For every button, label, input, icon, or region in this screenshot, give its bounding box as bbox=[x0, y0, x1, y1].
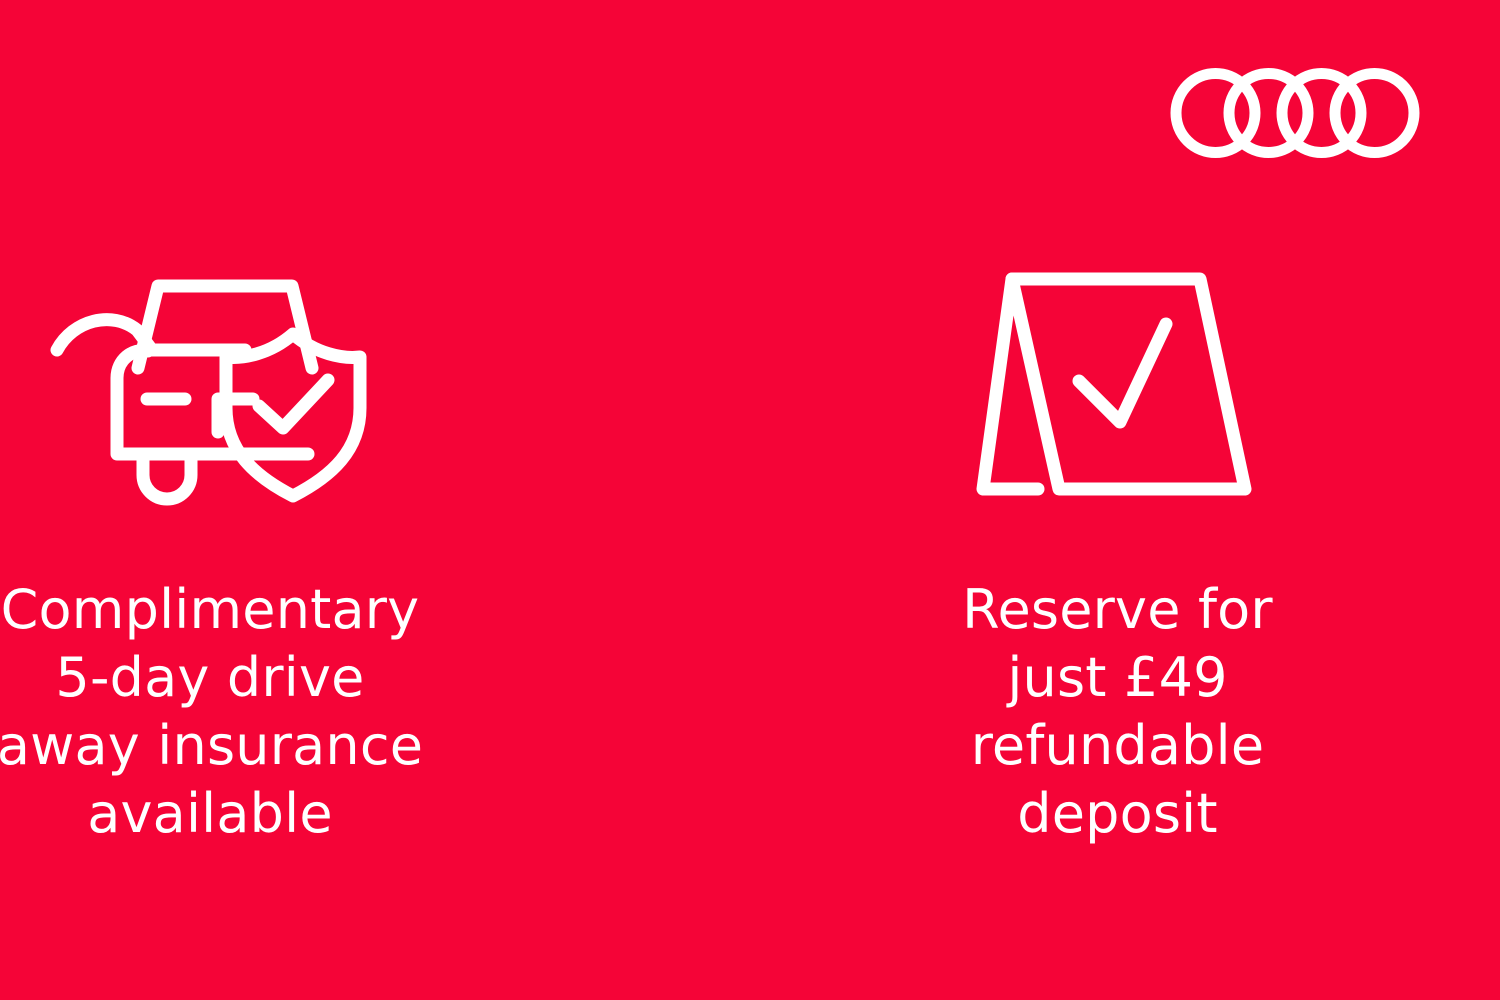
feature-caption-reserve: Reserve for just £49 refundable deposit bbox=[838, 576, 1398, 848]
feature-item-insurance: Complimentary 5-day drive away insurance… bbox=[0, 0, 750, 1000]
promo-banner: Complimentary 5-day drive away insurance… bbox=[0, 0, 1500, 1000]
feature-caption-insurance: Complimentary 5-day drive away insurance… bbox=[0, 576, 520, 848]
feature-list: Complimentary 5-day drive away insurance… bbox=[0, 0, 1500, 1000]
feature-item-reserve: Reserve for just £49 refundable deposit bbox=[750, 0, 1500, 1000]
car-shield-insurance-icon bbox=[40, 258, 380, 508]
folded-card-checkmark-icon bbox=[968, 258, 1268, 508]
